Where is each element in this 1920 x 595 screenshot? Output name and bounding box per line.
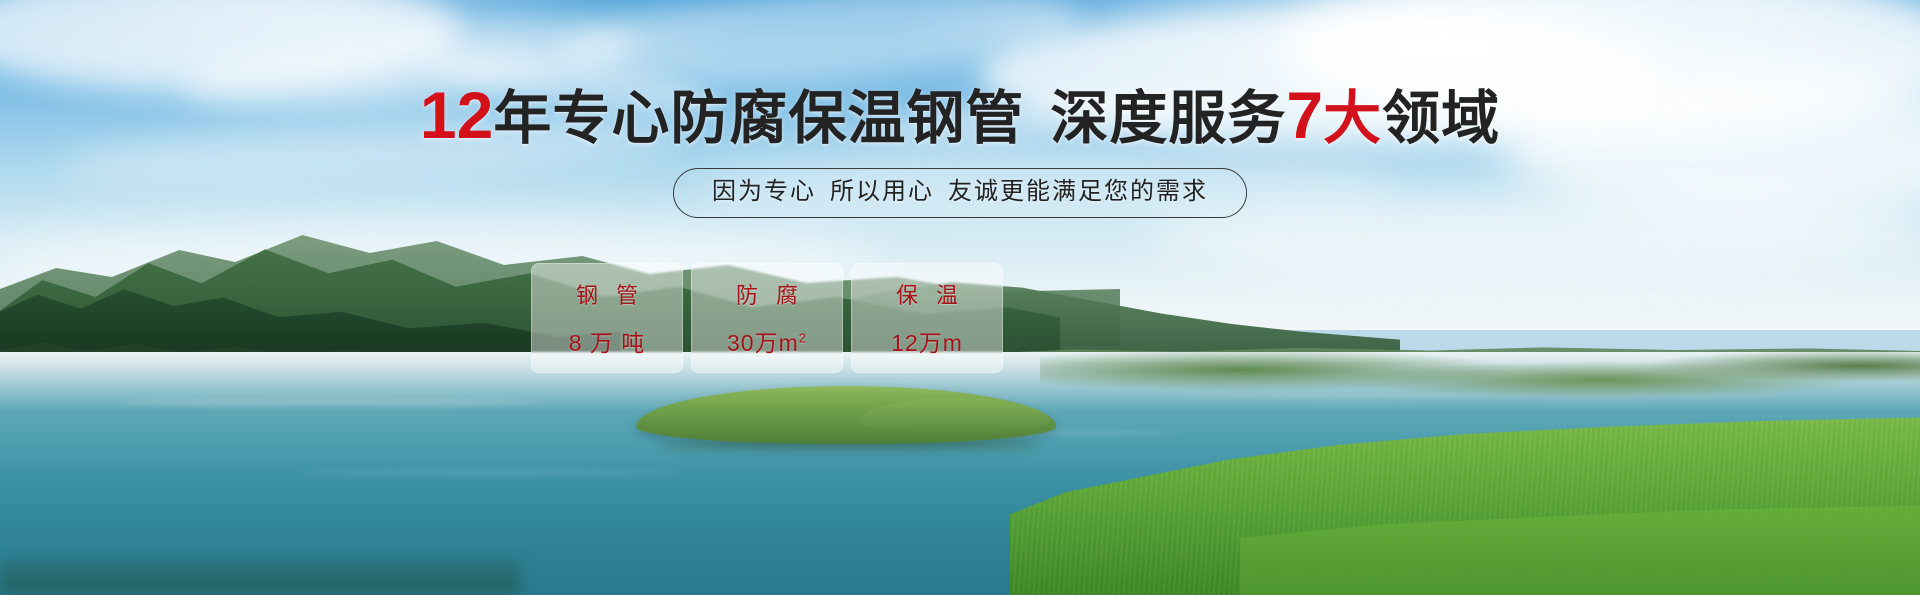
stat-card-value: 30万m2 [727, 324, 807, 358]
stat-value-superscript: 2 [799, 330, 807, 345]
hero-banner: 12年专心防腐保温钢管深度服务7大领域 因为专心所以用心友诚更能满足您的需求 钢… [0, 0, 1920, 595]
headline-tail-unit-red: 大 [1323, 86, 1382, 151]
stat-value-main: 12万m [891, 330, 963, 356]
headline-tail-text: 领域 [1382, 86, 1500, 151]
subtitle-container: 因为专心所以用心友诚更能满足您的需求 [0, 168, 1920, 218]
subtitle-part-1: 因为专心 [712, 178, 816, 205]
subtitle-part-3: 友诚更能满足您的需求 [948, 178, 1208, 205]
stat-card-anticorrosion[interactable]: 防 腐 30万m2 [691, 263, 843, 373]
headline-lead-text: 年专心防腐保温钢管 [493, 86, 1024, 151]
headline-tail-number: 7 [1286, 78, 1323, 152]
stat-card-steel-pipe[interactable]: 钢 管 8 万 吨 [531, 263, 683, 373]
water-ripple [300, 470, 680, 476]
marsh-vegetation [1040, 352, 1920, 422]
stat-value-main: 8 万 吨 [569, 330, 646, 356]
stat-card-title: 钢 管 [570, 278, 644, 310]
stat-card-value: 12万m [891, 324, 963, 358]
stat-card-value: 8 万 吨 [569, 324, 646, 358]
stat-value-main: 30万m [727, 330, 799, 356]
headline-lead-number: 12 [420, 78, 493, 152]
stat-card-title: 保 温 [890, 278, 964, 310]
left-shore-shadow [0, 560, 520, 595]
headline-tail-lead: 深度服务 [1050, 86, 1286, 151]
stat-cards: 钢 管 8 万 吨 防 腐 30万m2 保 温 12万m [531, 263, 1003, 373]
subtitle-part-2: 所以用心 [830, 178, 934, 205]
stat-card-insulation[interactable]: 保 温 12万m [851, 263, 1003, 373]
stat-card-title: 防 腐 [730, 278, 804, 310]
subtitle-pill: 因为专心所以用心友诚更能满足您的需求 [673, 168, 1247, 218]
banner-headline: 12年专心防腐保温钢管深度服务7大领域 [0, 82, 1920, 148]
water-ripple [120, 400, 540, 405]
